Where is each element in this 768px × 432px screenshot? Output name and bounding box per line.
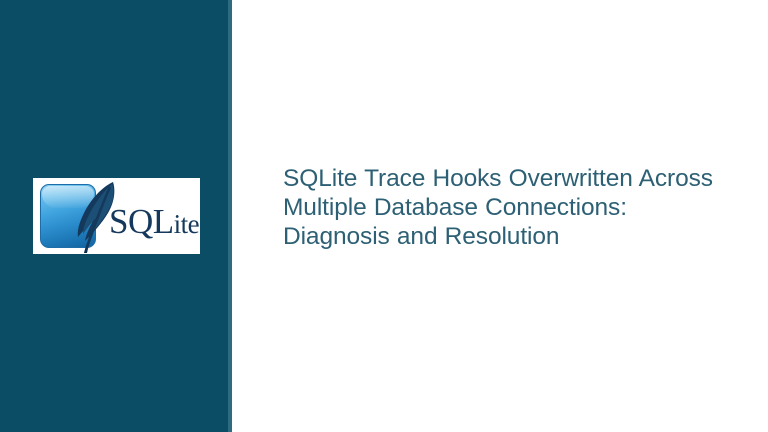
- sidebar-panel: SQLite: [0, 0, 232, 432]
- main-content: SQLite Trace Hooks Overwritten Across Mu…: [232, 0, 768, 432]
- title-slide: SQLite SQLite Trace Hooks Overwritten Ac…: [0, 0, 768, 432]
- page-title: SQLite Trace Hooks Overwritten Across Mu…: [283, 164, 731, 252]
- sqlite-wordmark: SQLite: [109, 204, 199, 242]
- wordmark-sql: SQL: [109, 202, 174, 241]
- sqlite-logo-inner: SQLite: [33, 178, 200, 254]
- sqlite-logo: SQLite: [33, 178, 200, 254]
- wordmark-ite: ite: [174, 209, 200, 239]
